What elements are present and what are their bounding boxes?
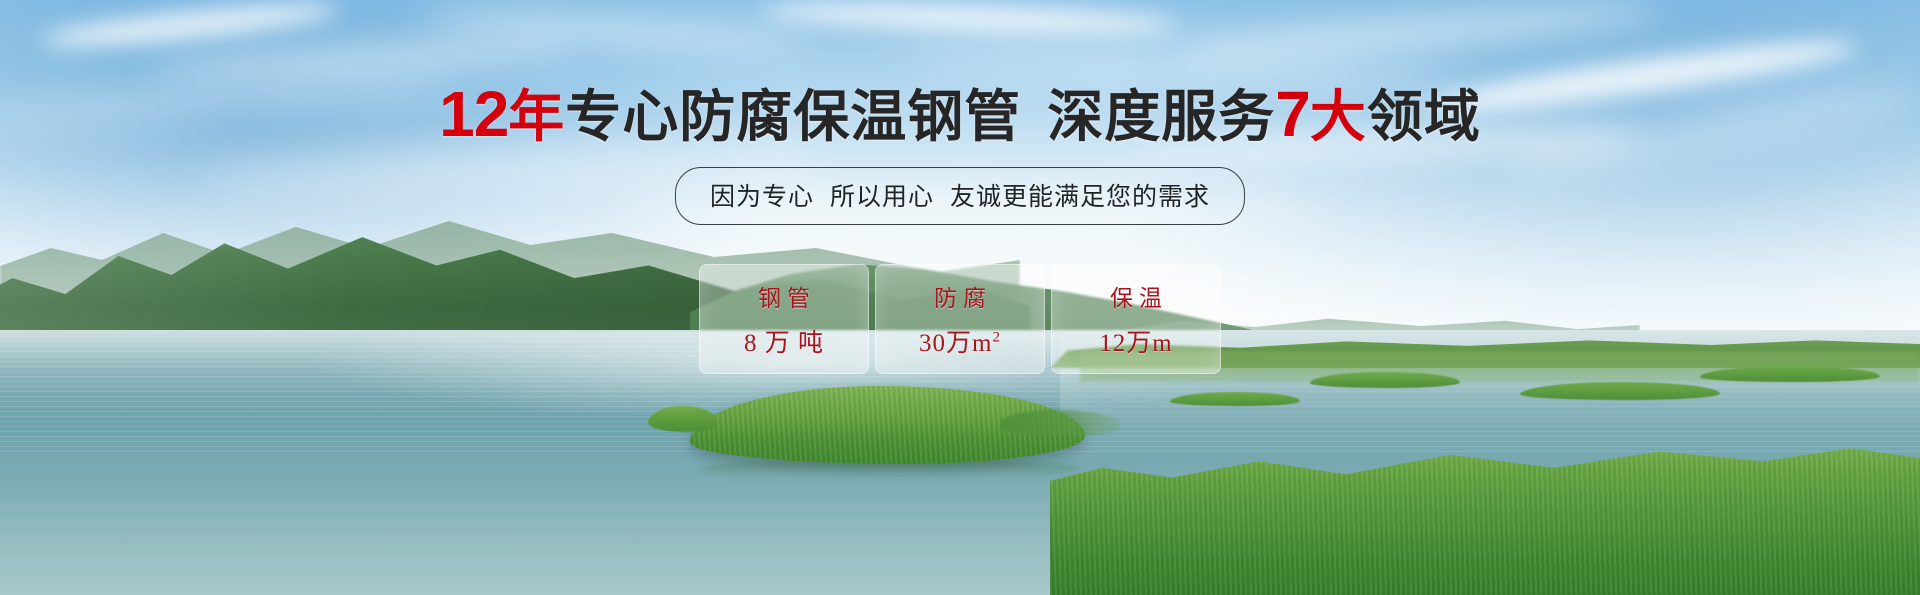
headline-years-number: 12 [439,78,508,150]
stat-label: 保温 [1104,279,1168,313]
headline-years-unit: 年 [508,85,565,148]
headline-fields-text: 领域 [1367,85,1481,148]
stat-value-main: 8 万 吨 [744,330,824,357]
stat-card-group: 钢管 8 万 吨 防腐 30万m2 保温 12万m [699,264,1221,374]
stat-value-superscript: 2 [992,330,1001,346]
headline-fields-number: 7 [1275,78,1310,150]
headline-main-text: 专心防腐保温钢管 [565,85,1021,148]
banner-text-overlay: 12年专心防腐保温钢管深度服务7大领域 因为专心所以用心友诚更能满足您的需求 钢… [0,0,1920,595]
stat-value-main: 30万m [919,330,992,357]
subtitle-part-1: 因为专心 [710,183,814,211]
stat-label: 防腐 [928,279,992,313]
subtitle-part-2: 所以用心 [830,183,934,211]
stat-card-anticorrosion: 防腐 30万m2 [875,264,1045,374]
hero-banner: 12年专心防腐保温钢管深度服务7大领域 因为专心所以用心友诚更能满足您的需求 钢… [0,0,1920,595]
stat-card-steel-pipe: 钢管 8 万 吨 [699,264,869,374]
stat-value: 30万m2 [919,323,1001,359]
stat-value-main: 12万m [1099,330,1172,357]
banner-subtitle-pill: 因为专心所以用心友诚更能满足您的需求 [675,167,1245,225]
stat-value: 12万m [1099,323,1172,359]
stat-label: 钢管 [752,279,816,313]
banner-headline: 12年专心防腐保温钢管深度服务7大领域 [0,82,1920,146]
headline-fields-unit: 大 [1310,85,1367,148]
stat-card-insulation: 保温 12万m [1051,264,1221,374]
stat-value: 8 万 吨 [744,323,824,359]
headline-service-text: 深度服务 [1047,85,1275,148]
subtitle-part-3: 友诚更能满足您的需求 [950,183,1210,211]
